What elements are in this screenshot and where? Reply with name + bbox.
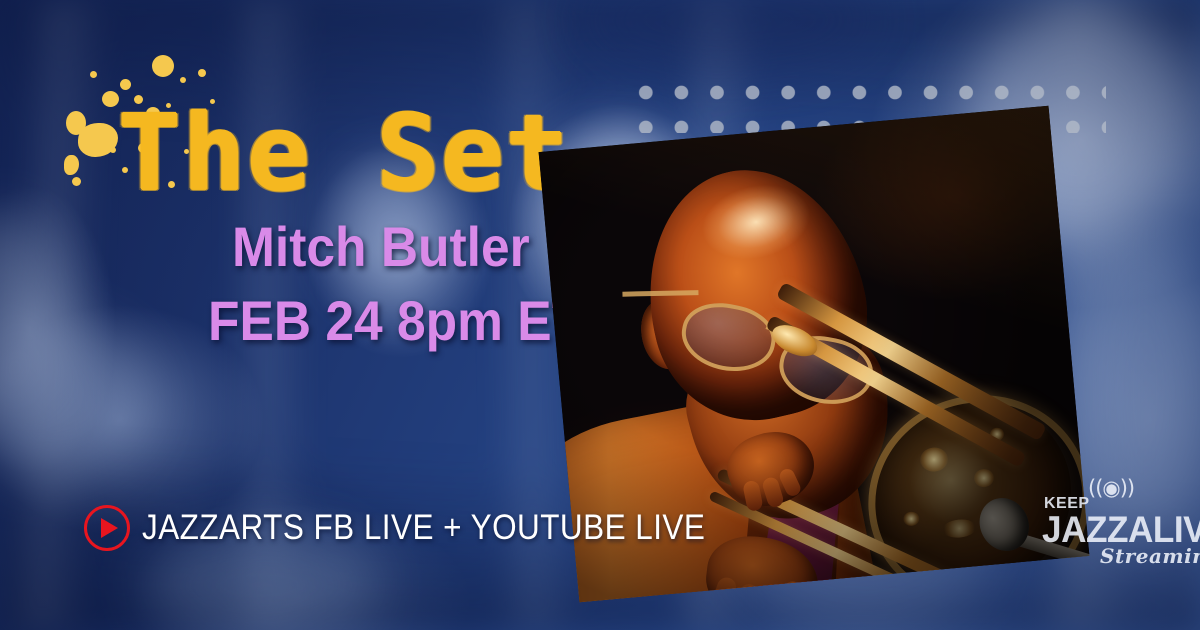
event-date: FEB 24 8pm ET: [208, 288, 583, 353]
play-circle-icon[interactable]: [84, 505, 130, 551]
keep-jazz-alive-logo: ((◉)) KEEP JAZZALIVE Streaming: [1042, 478, 1192, 570]
logo-streaming-text: Streaming: [1100, 544, 1200, 568]
stream-info: JAZZARTS FB LIVE + YOUTUBE LIVE: [84, 505, 768, 551]
artist-name: Mitch Butler: [232, 214, 530, 279]
page-title: The Set: [118, 92, 570, 214]
event-poster: The Set Mitch Butler FEB 24 8pm ET: [0, 0, 1200, 630]
broadcast-icon: ((◉)): [1088, 478, 1134, 499]
stream-platforms-label: JAZZARTS FB LIVE + YOUTUBE LIVE: [142, 508, 705, 548]
